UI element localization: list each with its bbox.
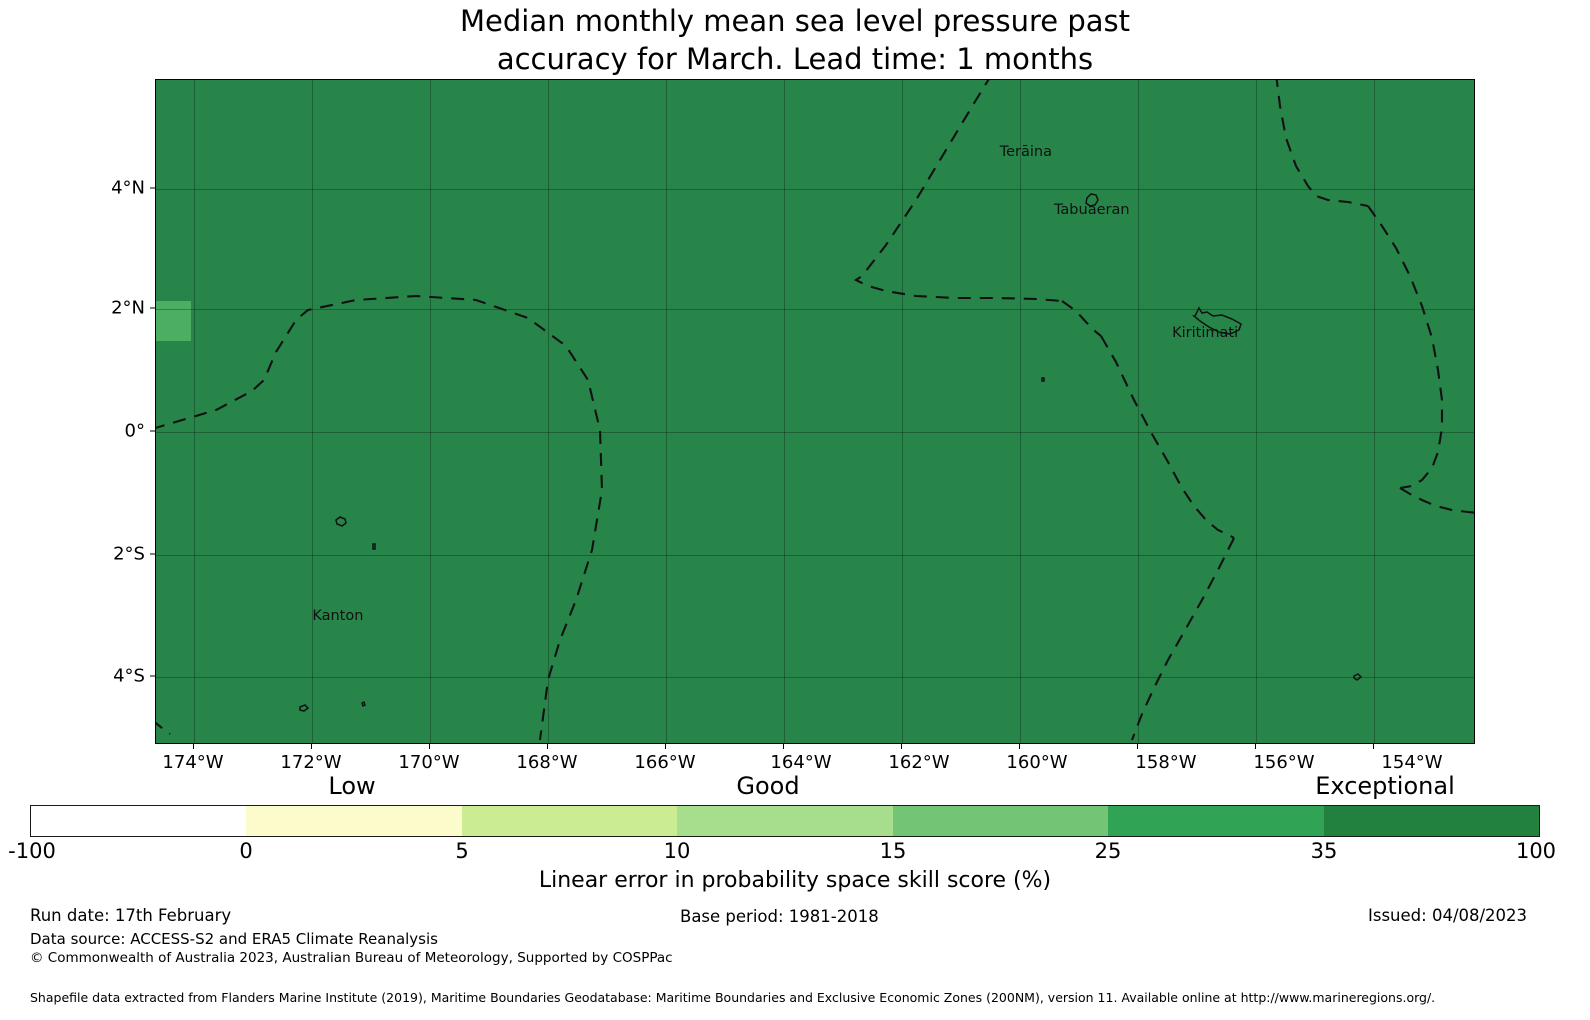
place-label-kiritimati: Kiritimati	[1172, 325, 1238, 341]
y-tick-mark	[150, 308, 155, 309]
x-tick-label: 160°W	[1006, 752, 1067, 773]
x-tick-mark	[1137, 744, 1138, 749]
x-tick-mark	[1373, 744, 1374, 749]
y-tick-label: 2°S	[113, 544, 145, 565]
colorbar-tick-label: 35	[1311, 839, 1338, 863]
x-tick-mark	[547, 744, 548, 749]
x-tick-mark	[1255, 744, 1256, 749]
colorbar-axis-label: Linear error in probability space skill …	[0, 868, 1590, 893]
footer-copyright: © Commonwealth of Australia 2023, Austra…	[30, 950, 673, 966]
colorbar-segment	[677, 806, 892, 836]
footer-data-source: Data source: ACCESS-S2 and ERA5 Climate …	[30, 930, 438, 948]
y-tick-mark	[150, 554, 155, 555]
x-tick-mark	[665, 744, 666, 749]
y-tick-label: 4°S	[113, 666, 145, 687]
x-tick-label: 156°W	[1253, 752, 1314, 773]
x-tick-label: 168°W	[516, 752, 577, 773]
y-tick-label: 2°N	[111, 298, 145, 319]
y-tick-mark	[150, 676, 155, 677]
colorbar[interactable]	[30, 805, 1540, 837]
x-tick-label: 166°W	[634, 752, 695, 773]
place-label-kanton: Kanton	[312, 608, 363, 624]
x-tick-label: 154°W	[1381, 752, 1442, 773]
colorbar-segment	[246, 806, 461, 836]
island-outlines	[156, 80, 1475, 744]
footer-base-period: Base period: 1981-2018	[680, 907, 879, 926]
colorbar-tick-label: 15	[880, 839, 907, 863]
colorbar-tick-label: 10	[664, 839, 691, 863]
x-tick-mark	[901, 744, 902, 749]
y-tick-label: 4°N	[111, 178, 145, 199]
footer-run-date: Run date: 17th February	[30, 906, 231, 925]
colorbar-category-good: Good	[736, 772, 799, 800]
colorbar-segment	[1108, 806, 1323, 836]
footer-issued-date: Issued: 04/08/2023	[1368, 906, 1527, 925]
x-tick-mark	[311, 744, 312, 749]
colorbar-segment	[893, 806, 1108, 836]
colorbar-segment	[31, 806, 246, 836]
x-tick-label: 164°W	[770, 752, 831, 773]
page-title: Median monthly mean sea level pressure p…	[0, 2, 1590, 78]
colorbar-tick-label: -100	[8, 839, 56, 863]
x-tick-label: 172°W	[280, 752, 341, 773]
x-tick-mark	[429, 744, 430, 749]
colorbar-tick-label: 0	[239, 839, 252, 863]
x-tick-label: 158°W	[1135, 752, 1196, 773]
colorbar-tick-label: 100	[1516, 839, 1556, 863]
x-tick-mark	[1019, 744, 1020, 749]
map-plot-area[interactable]: Terāina Tabuaeran Kiritimati Kanton	[155, 79, 1475, 744]
colorbar-tick-label: 25	[1095, 839, 1122, 863]
x-tick-label: 162°W	[888, 752, 949, 773]
x-tick-mark	[193, 744, 194, 749]
footer-shapefile-attribution: Shapefile data extracted from Flanders M…	[30, 990, 1435, 1005]
x-tick-label: 170°W	[398, 752, 459, 773]
x-tick-mark	[783, 744, 784, 749]
colorbar-category-exceptional: Exceptional	[1315, 772, 1455, 800]
colorbar-tick-label: 5	[455, 839, 468, 863]
colorbar-category-labels: Low Good Exceptional	[0, 772, 1590, 802]
colorbar-category-low: Low	[328, 772, 375, 800]
x-tick-label: 174°W	[162, 752, 223, 773]
place-label-teraina: Terāina	[1000, 144, 1052, 160]
y-tick-mark	[150, 431, 155, 432]
footer: Run date: 17th February Base period: 198…	[0, 900, 1590, 1020]
colorbar-segment	[462, 806, 677, 836]
y-tick-mark	[150, 188, 155, 189]
colorbar-tick-labels: -100 0 5 10 15 25 35 100	[0, 839, 1590, 865]
y-tick-label: 0°	[125, 421, 145, 442]
place-label-tabuaeran: Tabuaeran	[1054, 202, 1130, 218]
colorbar-segment	[1324, 806, 1539, 836]
